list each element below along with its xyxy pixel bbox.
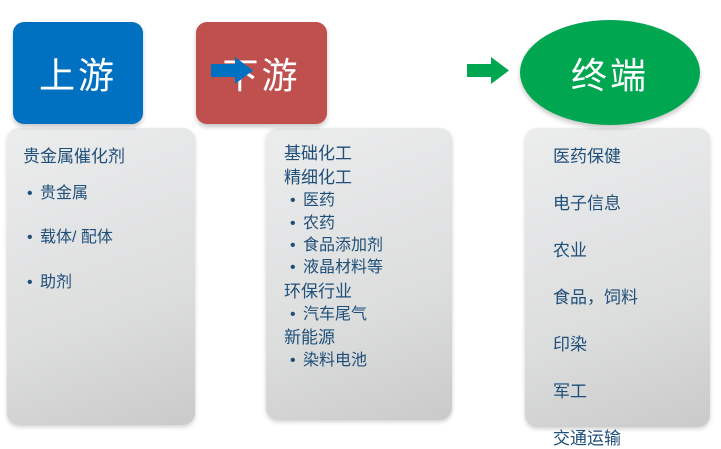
- header-upstream[interactable]: 上游: [13, 22, 143, 124]
- list-item-label: 农药: [303, 215, 335, 232]
- list-item: •液晶材料等: [286, 257, 442, 279]
- list-item: •食品添加剂: [286, 235, 442, 257]
- bullet-dot-icon: •: [290, 213, 303, 235]
- list-item: 食品，饲料: [553, 283, 700, 308]
- header-terminal[interactable]: 终端: [520, 20, 700, 125]
- list-item: •助剂: [23, 272, 185, 294]
- panel-downstream: 基础化工精细化工•医药•农药•食品添加剂•液晶材料等环保行业•汽车尾气新能源•染…: [266, 128, 452, 420]
- arrow-right-icon-downstream-to-terminal: [467, 57, 509, 84]
- bullet-dot-icon: •: [27, 183, 40, 205]
- group-heading: 贵金属催化剂: [23, 142, 185, 167]
- list-item: •染料电池: [286, 350, 442, 372]
- group-heading: 精细化工: [284, 166, 442, 190]
- group-heading: 基础化工: [284, 142, 442, 166]
- list-item-label: 医药: [303, 192, 335, 209]
- list-item: •贵金属: [23, 183, 185, 205]
- panel-downstream-content: 基础化工精细化工•医药•农药•食品添加剂•液晶材料等环保行业•汽车尾气新能源•染…: [266, 128, 452, 420]
- bullet-dot-icon: •: [290, 235, 303, 257]
- panel-upstream-content: 贵金属催化剂•贵金属•载体/ 配体•助剂: [7, 128, 195, 425]
- list-item: 军工: [553, 377, 700, 402]
- list-item-label: 贵金属: [40, 185, 88, 202]
- list-item: •农药: [286, 213, 442, 235]
- bullet-dot-icon: •: [27, 227, 40, 249]
- bullet-dot-icon: •: [290, 304, 303, 326]
- header-upstream-label: 上游: [39, 47, 117, 99]
- list-item: •汽车尾气: [286, 304, 442, 326]
- header-terminal-label: 终端: [571, 47, 649, 99]
- bullet-dot-icon: •: [27, 272, 40, 294]
- list-item-label: 汽车尾气: [303, 306, 367, 323]
- bullet-dot-icon: •: [290, 257, 303, 279]
- list-item: •医药: [286, 190, 442, 212]
- list-item: 电子信息: [553, 189, 700, 214]
- list-item-label: 载体/ 配体: [40, 229, 113, 246]
- list-item-label: 染料电池: [303, 352, 367, 369]
- list-item: •载体/ 配体: [23, 227, 185, 249]
- group-heading: 环保行业: [284, 280, 442, 304]
- panel-upstream: 贵金属催化剂•贵金属•载体/ 配体•助剂: [7, 128, 195, 425]
- supply-chain-diagram: 贵金属催化剂•贵金属•载体/ 配体•助剂 基础化工精细化工•医药•农药•食品添加…: [0, 0, 721, 437]
- list-item: 医药保健: [553, 142, 700, 167]
- list-item: 印染: [553, 330, 700, 355]
- bullet-dot-icon: •: [290, 350, 303, 372]
- list-item-label: 食品添加剂: [303, 237, 383, 254]
- panel-terminal-content: 医药保健电子信息农业食品，饲料印染军工交通运输: [525, 128, 710, 427]
- panel-terminal: 医药保健电子信息农业食品，饲料印染军工交通运输: [525, 128, 710, 427]
- list-item-label: 助剂: [40, 274, 72, 291]
- list-item-label: 液晶材料等: [303, 259, 383, 276]
- arrow-right-icon-upstream-to-downstream: [211, 57, 253, 84]
- bullet-dot-icon: •: [290, 190, 303, 212]
- group-heading: 新能源: [284, 326, 442, 350]
- list-item: 农业: [553, 236, 700, 261]
